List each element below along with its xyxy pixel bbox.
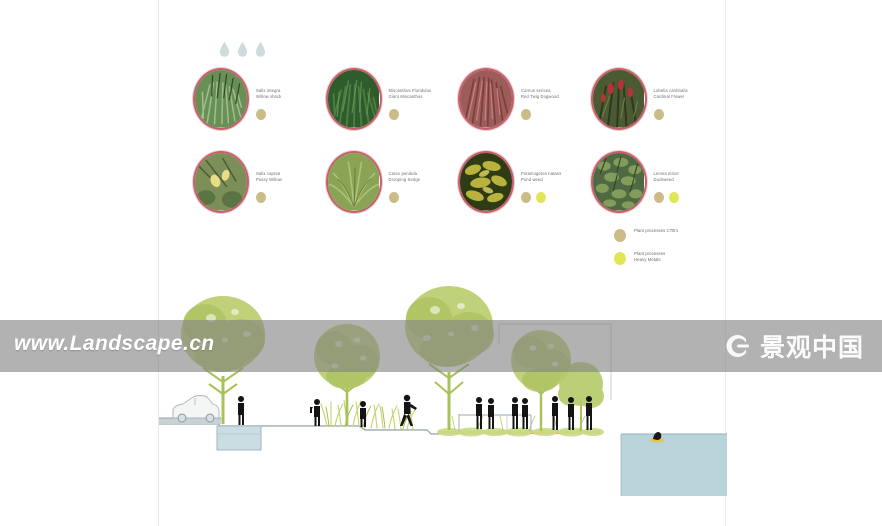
- figure: [552, 396, 558, 430]
- plant-tag-dots: [521, 109, 559, 120]
- plant-item-lobelia-cardinalis[interactable]: Lobelia cardinalis Cardinal Flower: [591, 68, 724, 144]
- legend-label-ctb-line1: Plant processes CTB's: [634, 228, 678, 233]
- plant-common-name: Duckweed: [654, 177, 680, 183]
- plant-tag-dots: [389, 109, 432, 120]
- tag-dot-ctb: [521, 192, 531, 203]
- figure: [586, 396, 592, 430]
- tag-dot-ctb: [256, 192, 266, 203]
- plant-tag-dots: [256, 192, 282, 203]
- drawing-sheet: Salix integra Willow shrub: [158, 0, 726, 526]
- plant-label-block: Salix integra Willow shrub: [256, 68, 281, 120]
- figure: [488, 398, 494, 429]
- tag-dot-ctb: [654, 192, 664, 203]
- open-water: [621, 434, 727, 496]
- plant-row: Salix caprea Pussy Willow: [193, 151, 723, 227]
- tag-dot-ctb: [654, 109, 664, 120]
- plant-photo-circle: [326, 151, 382, 213]
- plant-common-name: Pond weed: [521, 177, 561, 183]
- plant-photo-circle: [193, 151, 249, 213]
- parked-car: [173, 396, 219, 423]
- plant-item-potamogeton-natans[interactable]: Potamogeton natans Pond weed: [458, 151, 591, 227]
- plant-tag-dots: [654, 192, 680, 203]
- plant-photo-circle: [591, 151, 647, 213]
- street-tree: [314, 324, 380, 426]
- figure: [522, 398, 528, 429]
- water-drop-icon: [219, 41, 230, 58]
- plant-label-block: Cornus sericea Red Twig Dogwood: [521, 68, 559, 120]
- landscape-section-drawing: [159, 248, 727, 526]
- water-drop-icon-group: [219, 41, 266, 58]
- plant-common-name: Giant Miscanthus: [389, 94, 432, 100]
- plant-label-block: Lobelia cardinalis Cardinal Flower: [654, 68, 688, 120]
- plant-row: Salix integra Willow shrub: [193, 68, 723, 144]
- tag-dot-ctb: [389, 109, 399, 120]
- plant-item-salix-integra[interactable]: Salix integra Willow shrub: [193, 68, 326, 144]
- plant-common-name: Drooping Sedge: [389, 177, 421, 183]
- plant-common-name: Red Twig Dogwood: [521, 94, 559, 100]
- plant-common-name: Willow shrub: [256, 94, 281, 100]
- water-drop-icon: [255, 41, 266, 58]
- landscape-china-logo-icon: [723, 331, 753, 361]
- tag-dot-heavy-metals: [536, 192, 546, 203]
- plant-label-block: Potamogeton natans Pond weed: [521, 151, 561, 203]
- figure: [360, 401, 366, 427]
- watermark-url: www.Landscape.cn: [14, 332, 215, 356]
- figure: [310, 399, 320, 426]
- water-drop-icon: [237, 41, 248, 58]
- tag-dot-ctb: [389, 192, 399, 203]
- plant-item-lemna-minor[interactable]: Lemna minor Duckweed: [591, 151, 724, 227]
- pedestrian-figures: [238, 395, 592, 430]
- plant-photo-circle: [591, 68, 647, 130]
- plant-tag-dots: [256, 109, 281, 120]
- plant-label-block: Lemna minor Duckweed: [654, 151, 680, 203]
- figure: [238, 396, 244, 425]
- plant-item-miscanthus-floridulus[interactable]: Miscanthus Floridulus Giant Miscanthus: [326, 68, 459, 144]
- legend-dot-ctb: [614, 229, 626, 242]
- plant-photo-circle: [458, 68, 514, 130]
- figure: [512, 397, 518, 429]
- plant-item-cornus-sericea[interactable]: Cornus sericea Red Twig Dogwood: [458, 68, 591, 144]
- legend-item-ctb: Plant processes CTB's: [614, 228, 678, 242]
- tag-dot-ctb: [256, 109, 266, 120]
- plant-common-name: Cardinal Flower: [654, 94, 688, 100]
- tag-dot-heavy-metals: [669, 192, 679, 203]
- plant-label-block: Miscanthus Floridulus Giant Miscanthus: [389, 68, 432, 120]
- plant-item-carex-pendula[interactable]: Carex pendula Drooping Sedge: [326, 151, 459, 227]
- plant-common-name: Pussy Willow: [256, 177, 282, 183]
- watermark-logo-text: 景观中国: [760, 328, 864, 364]
- plant-tag-dots: [521, 192, 561, 203]
- plant-label-block: Salix caprea Pussy Willow: [256, 151, 282, 203]
- plant-label-block: Carex pendula Drooping Sedge: [389, 151, 421, 203]
- plant-tag-dots: [389, 192, 421, 203]
- screenshot-root: Salix integra Willow shrub: [0, 0, 882, 526]
- plant-photo-circle: [193, 68, 249, 130]
- plant-item-salix-caprea[interactable]: Salix caprea Pussy Willow: [193, 151, 326, 227]
- plant-tag-dots: [654, 109, 688, 120]
- stormwater-planter: [217, 426, 261, 450]
- watermark-logo: 景观中国: [723, 328, 864, 364]
- street-tree: [558, 362, 604, 431]
- figure: [568, 397, 574, 430]
- plant-palette-grid: Salix integra Willow shrub: [193, 68, 723, 234]
- plant-photo-circle: [326, 68, 382, 130]
- plant-photo-circle: [458, 151, 514, 213]
- tag-dot-ctb: [521, 109, 531, 120]
